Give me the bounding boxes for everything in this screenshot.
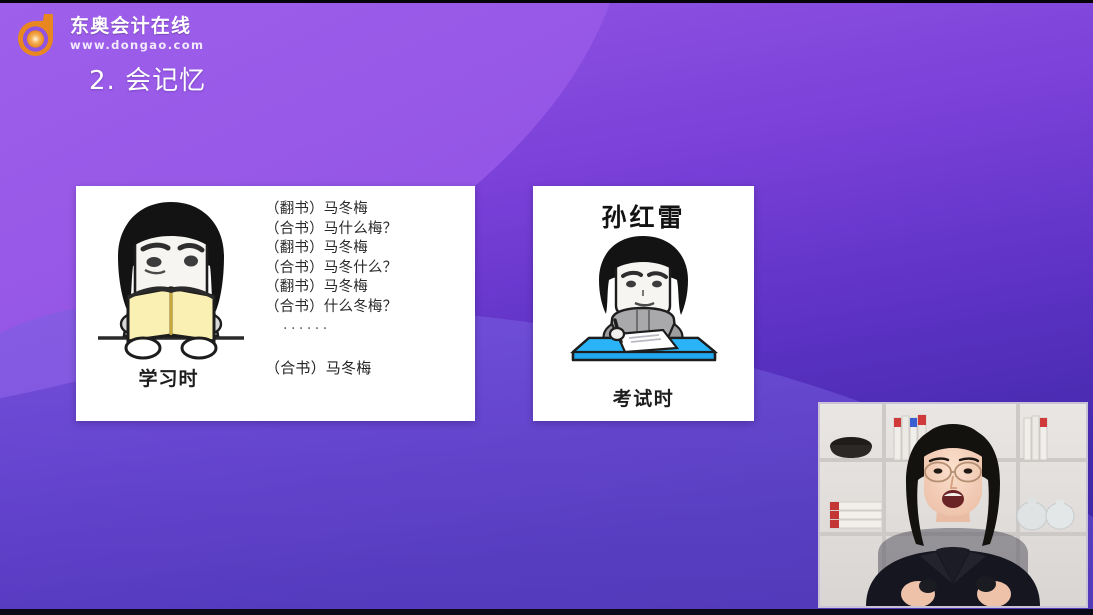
left-content-card: 学习时 （翻书）马冬梅 （合书）马什么梅？ （翻书）马冬梅 （合书）马冬什么？ … (76, 186, 475, 421)
script-final-line: （合书）马冬梅 (265, 357, 469, 378)
brand-logo-text: 东奥会计在线 www.dongao.com (70, 17, 204, 52)
script-line: （合书）马什么梅？ (265, 220, 469, 240)
right-card-label: 考试时 (533, 384, 754, 411)
script-line: （翻书）马冬梅 (265, 278, 469, 298)
right-card-title: 孙红雷 (533, 198, 754, 234)
script-line: （合书）马冬什么？ (265, 259, 469, 279)
brand-url: www.dongao.com (70, 40, 204, 52)
left-script-column: （翻书）马冬梅 （合书）马什么梅？ （翻书）马冬梅 （合书）马冬什么？ （翻书）… (261, 186, 475, 421)
slide-stage: 东奥会计在线 www.dongao.com 2. 会记忆 (0, 0, 1093, 615)
brand-name-cn: 东奥会计在线 (70, 17, 204, 36)
right-content-card: 孙红雷 (533, 186, 754, 421)
presenter-video-feed[interactable] (818, 402, 1088, 608)
bottom-edge-strip (0, 609, 1093, 615)
script-line: （合书）什么冬梅？ (265, 298, 469, 318)
top-edge-strip (0, 0, 1093, 3)
script-line: （翻书）马冬梅 (265, 239, 469, 259)
script-line: （翻书）马冬梅 (265, 200, 469, 220)
meme-exam-desk-illustration (559, 234, 728, 368)
left-illustration-column: 学习时 (76, 186, 261, 421)
brand-logo: 东奥会计在线 www.dongao.com (14, 11, 204, 58)
left-illustration-label: 学习时 (76, 364, 261, 391)
script-ellipsis: ······ (265, 318, 469, 340)
presenter-video-frame (820, 404, 1086, 606)
page-title: 2. 会记忆 (89, 60, 206, 97)
meme-reading-book-illustration (98, 196, 244, 361)
dongao-spiral-logo-icon (14, 11, 61, 58)
